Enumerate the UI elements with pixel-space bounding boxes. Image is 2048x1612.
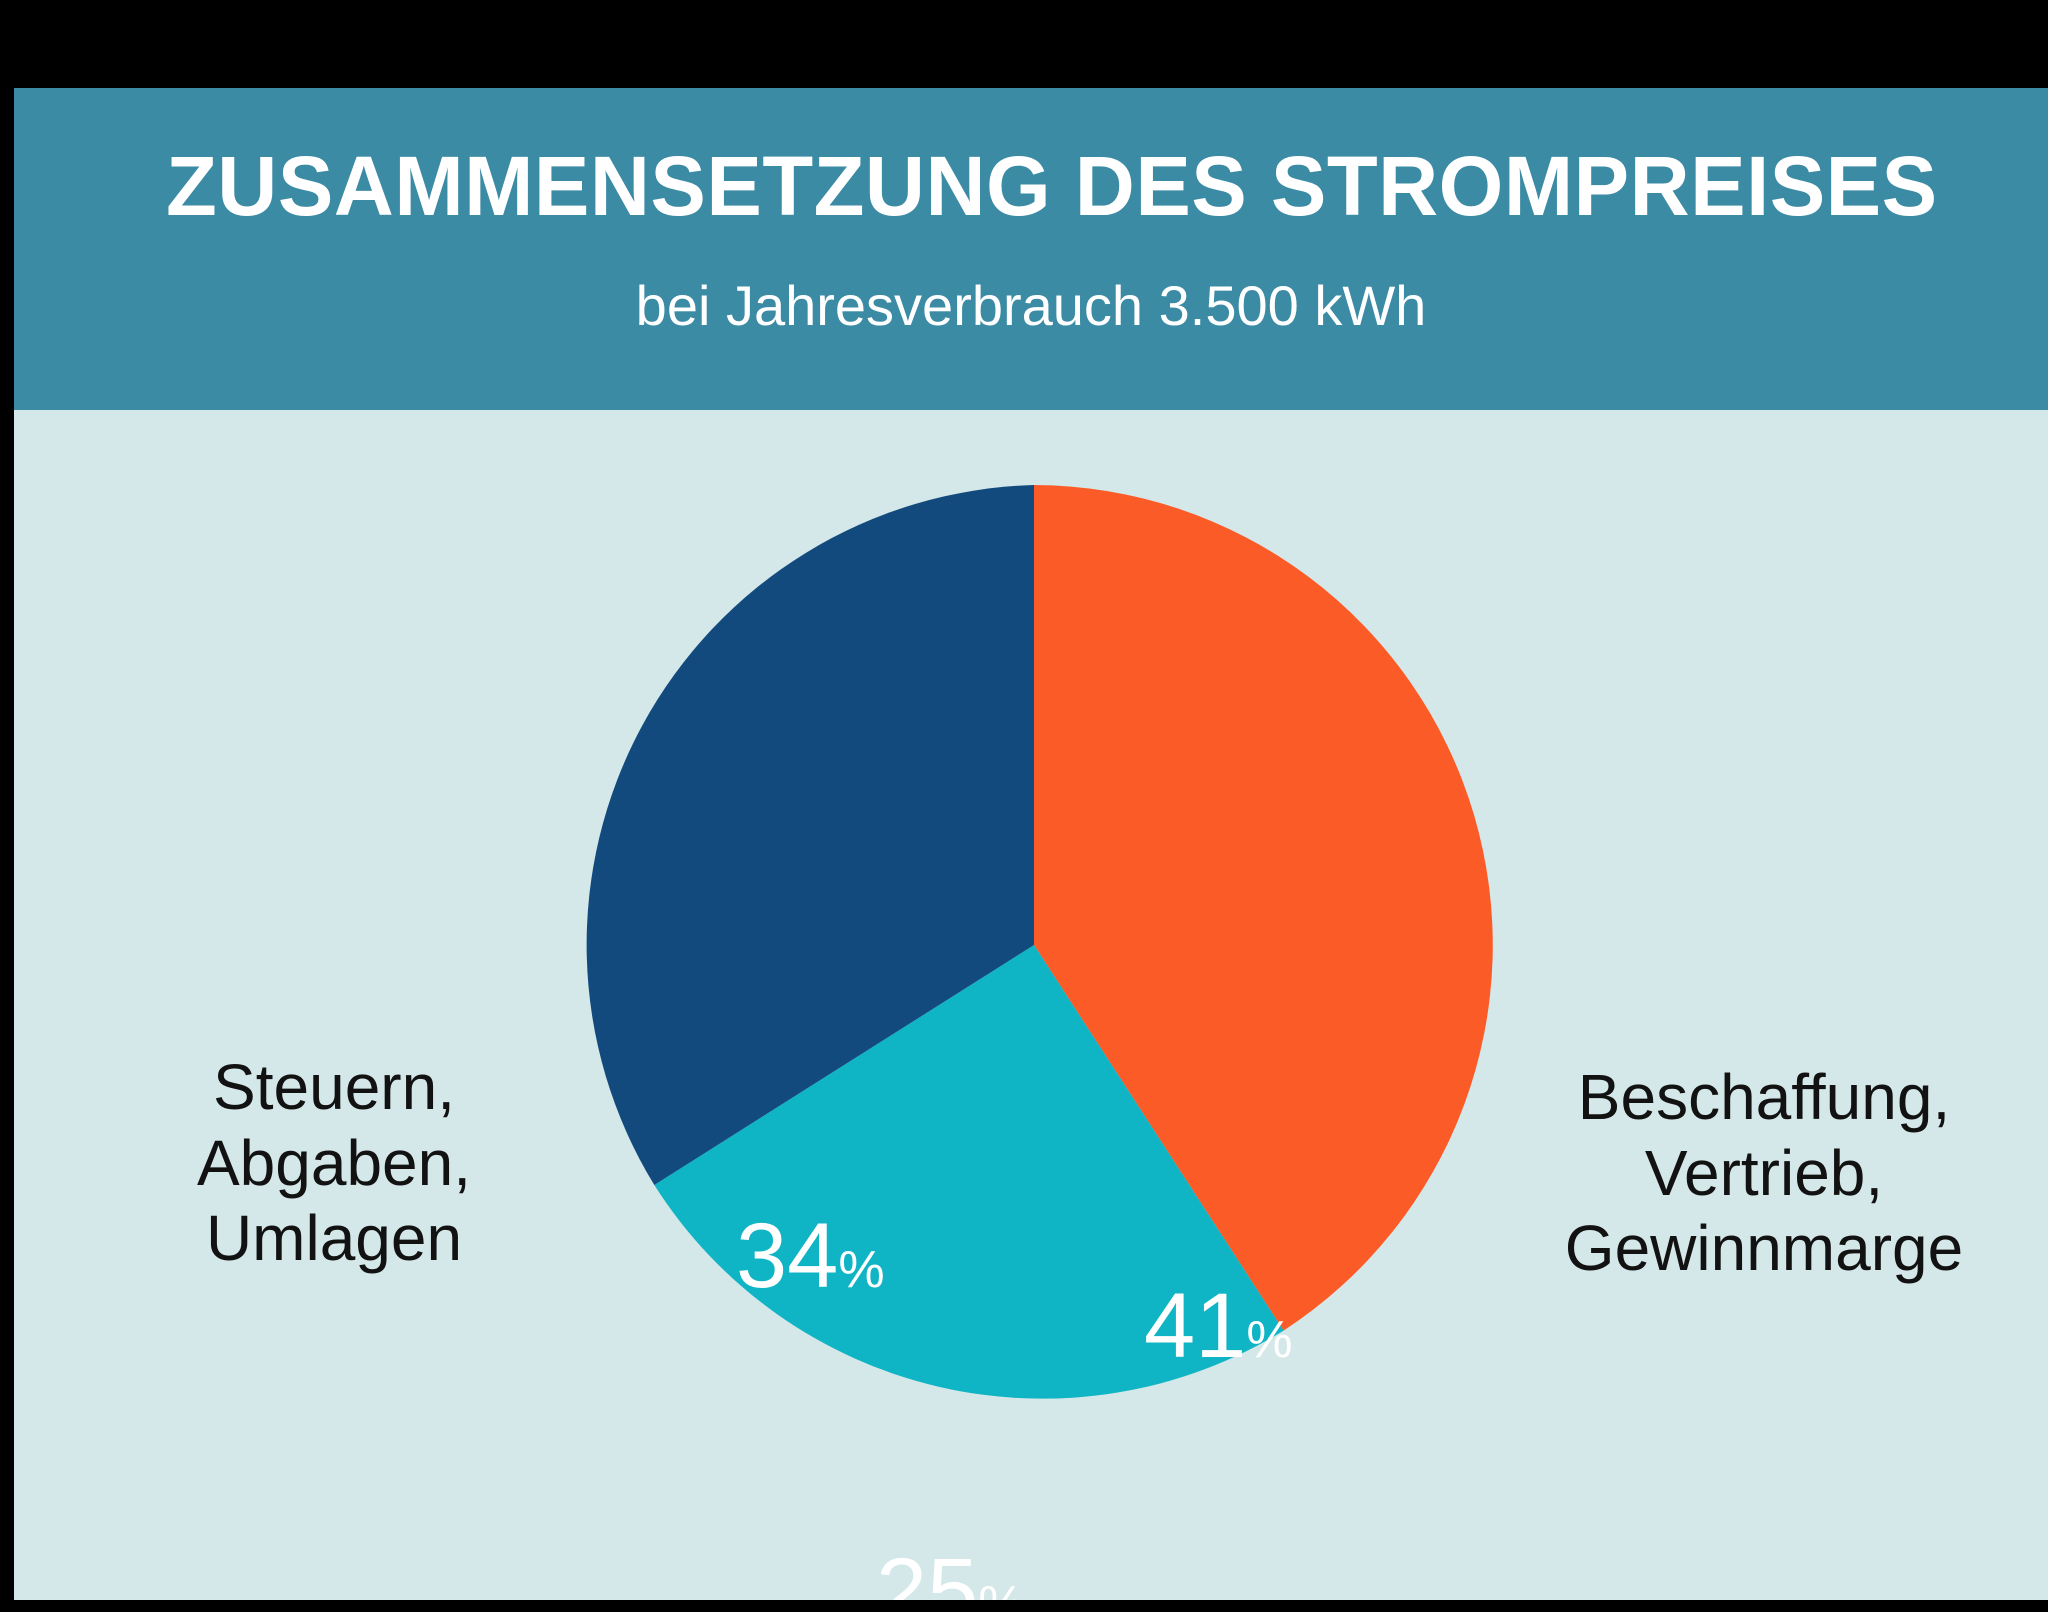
slice-value-number: 34	[736, 1205, 838, 1307]
slice-value-netzentgelte: 25%	[876, 1545, 1025, 1600]
slice-value-beschaffung: 41%	[1144, 1280, 1293, 1372]
label-line: Abgaben,	[124, 1126, 544, 1202]
slice-value-number: 41	[1144, 1275, 1246, 1377]
slice-value-percent-sign: %	[978, 1576, 1024, 1600]
label-beschaffung: Beschaffung, Vertrieb, Gewinnmarge	[1504, 1060, 2024, 1287]
page-title: ZUSAMMENSETZUNG DES STROMPREISES	[166, 144, 1948, 228]
infographic-frame: ZUSAMMENSETZUNG DES STROMPREISES bei Jah…	[0, 0, 2048, 1612]
label-line: Beschaffung,	[1504, 1060, 2024, 1136]
slice-value-percent-sign: %	[1246, 1311, 1292, 1369]
page-subtitle: bei Jahresverbrauch 3.500 kWh	[14, 278, 2048, 334]
pie-chart	[574, 485, 1494, 1405]
slice-value-steuern: 34%	[736, 1210, 885, 1302]
label-line: Gewinnmarge	[1504, 1211, 2024, 1287]
slice-value-number: 25	[876, 1540, 978, 1600]
chart-body: 41% 34% 25% Steuern, Abgaben, Umlagen Be…	[14, 410, 2048, 1600]
label-line: Umlagen	[124, 1201, 544, 1277]
pie-chart-svg	[574, 485, 1494, 1405]
label-steuern: Steuern, Abgaben, Umlagen	[124, 1050, 544, 1277]
label-line: Vertrieb,	[1504, 1136, 2024, 1212]
label-line: Steuern,	[124, 1050, 544, 1126]
slice-value-percent-sign: %	[838, 1241, 884, 1299]
header-band: ZUSAMMENSETZUNG DES STROMPREISES bei Jah…	[14, 88, 2048, 410]
